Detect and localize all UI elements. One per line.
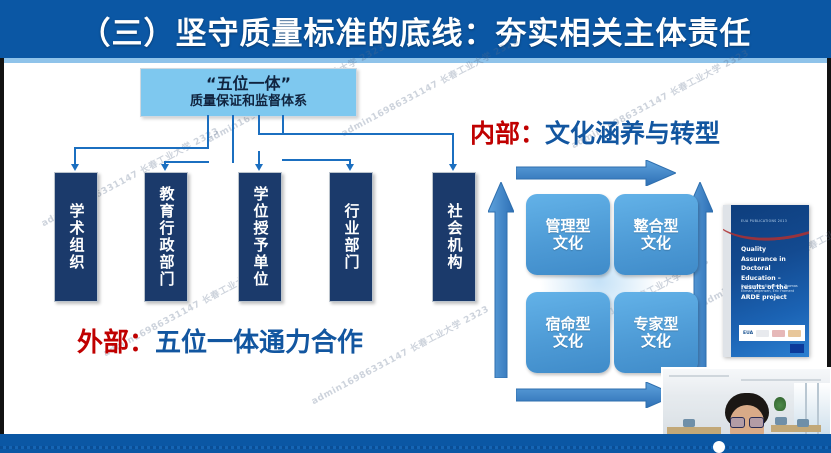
webcam-chair: [683, 419, 695, 427]
book-kicker: EUA PUBLICATIONS 2013: [741, 219, 787, 223]
slide-header-underline: [0, 58, 831, 63]
caption-internal: 内部：文化涵养与转型: [470, 114, 720, 150]
connector-arrowhead-3: [255, 164, 263, 171]
culture-box-fatalistic-line2: 文化: [553, 333, 583, 350]
pillar-box-industry-dept: 行业部门: [329, 172, 373, 302]
book-swoosh-decoration: [723, 205, 809, 247]
webcam-ceiling-beam: [741, 379, 821, 381]
cycle-arrow-left-up-icon: [488, 182, 514, 378]
player-progress-bar[interactable]: [0, 446, 831, 449]
glasses-left-lens: [730, 417, 745, 428]
slide-title: （三）坚守质量标准的底线：夯实相关主体责任: [0, 6, 831, 54]
book-partner-logo: [772, 330, 785, 337]
presentation-slide: （三）坚守质量标准的底线：夯实相关主体责任 admin16986331147 长…: [0, 0, 831, 453]
webcam-chair: [775, 417, 787, 425]
player-left-rail: [0, 58, 4, 434]
pillar-box-degree-granting-unit: 学位授予单位: [238, 172, 282, 302]
book-front-face: EUA PUBLICATIONS 2013 Quality Assurance …: [731, 205, 809, 357]
player-footer-band: [0, 434, 831, 453]
cycle-arrow-bottom-right-icon: [516, 382, 676, 408]
webcam-chair: [797, 419, 809, 427]
webcam-plant: [774, 397, 786, 411]
culture-box-management-line1: 管理型: [545, 218, 590, 235]
webcam-desk: [771, 425, 821, 432]
culture-box-fatalistic-line1: 宿命型: [545, 316, 590, 333]
pillar-box-education-admin-dept: 教育行政部门: [144, 172, 188, 302]
book-authors: By Alexandra Bitusikova, Thomas Ekman Jø…: [741, 284, 803, 294]
book-cover-image: EUA PUBLICATIONS 2013 Quality Assurance …: [723, 205, 809, 357]
connector-horizontal-mid-left: [164, 161, 209, 163]
culture-box-management-line2: 文化: [553, 235, 583, 252]
player-progress-knob[interactable]: [713, 441, 725, 453]
caption-internal-text: 文化涵养与转型: [545, 119, 720, 148]
culture-box-management: 管理型 文化: [526, 194, 610, 275]
book-eu-flag-icon: [790, 344, 804, 353]
culture-box-expert-line1: 专家型: [633, 316, 678, 333]
culture-box-expert-line2: 文化: [641, 333, 671, 350]
connector-horizontal-right: [258, 133, 453, 135]
pillar-box-social-institution: 社会机构: [432, 172, 476, 302]
connector-arrowhead-5: [449, 164, 457, 171]
glasses-right-lens: [749, 417, 764, 428]
culture-box-integration: 整合型 文化: [614, 194, 698, 275]
connector-stub-4: [282, 115, 284, 135]
connector-drop-5: [452, 133, 454, 165]
culture-box-integration-line2: 文化: [641, 235, 671, 252]
webcam-ceiling-beam: [669, 375, 729, 377]
connector-arrowhead-1: [71, 164, 79, 171]
culture-box-integration-line1: 整合型: [633, 218, 678, 235]
caption-external: 外部：五位一体通力合作: [77, 322, 363, 359]
system-concept-box: “五位一体” 质量保证和监督体系: [140, 68, 357, 117]
system-concept-subtitle: 质量保证和监督体系: [190, 94, 307, 110]
caption-external-text: 五位一体通力合作: [155, 328, 363, 358]
connector-stub-1: [207, 115, 209, 149]
connector-arrowhead-4: [346, 164, 354, 171]
caption-internal-prefix: 内部：: [470, 119, 545, 148]
connector-stub-3: [258, 115, 260, 133]
connector-drop-1: [74, 147, 76, 165]
book-logo-strip: EUA: [739, 325, 805, 341]
culture-box-expert: 专家型 文化: [614, 292, 698, 373]
connector-arrowhead-2: [161, 164, 169, 171]
webcam-desk: [667, 427, 721, 434]
culture-box-fatalistic: 宿命型 文化: [526, 292, 610, 373]
caption-external-prefix: 外部：: [77, 328, 155, 358]
book-partner-logo: [756, 330, 769, 337]
cycle-arrow-top-right-icon: [516, 160, 676, 186]
glasses-icon: [730, 417, 764, 426]
connector-horizontal-mid-right: [282, 159, 350, 161]
connector-drop-3: [258, 151, 260, 165]
system-concept-title: “五位一体”: [206, 76, 291, 93]
book-eua-logo: EUA: [743, 331, 753, 336]
connector-horizontal-left: [74, 147, 209, 149]
connector-stub-2: [232, 115, 234, 163]
pillar-box-academic-organization: 学术组织: [54, 172, 98, 302]
book-partner-logo: [788, 330, 801, 337]
